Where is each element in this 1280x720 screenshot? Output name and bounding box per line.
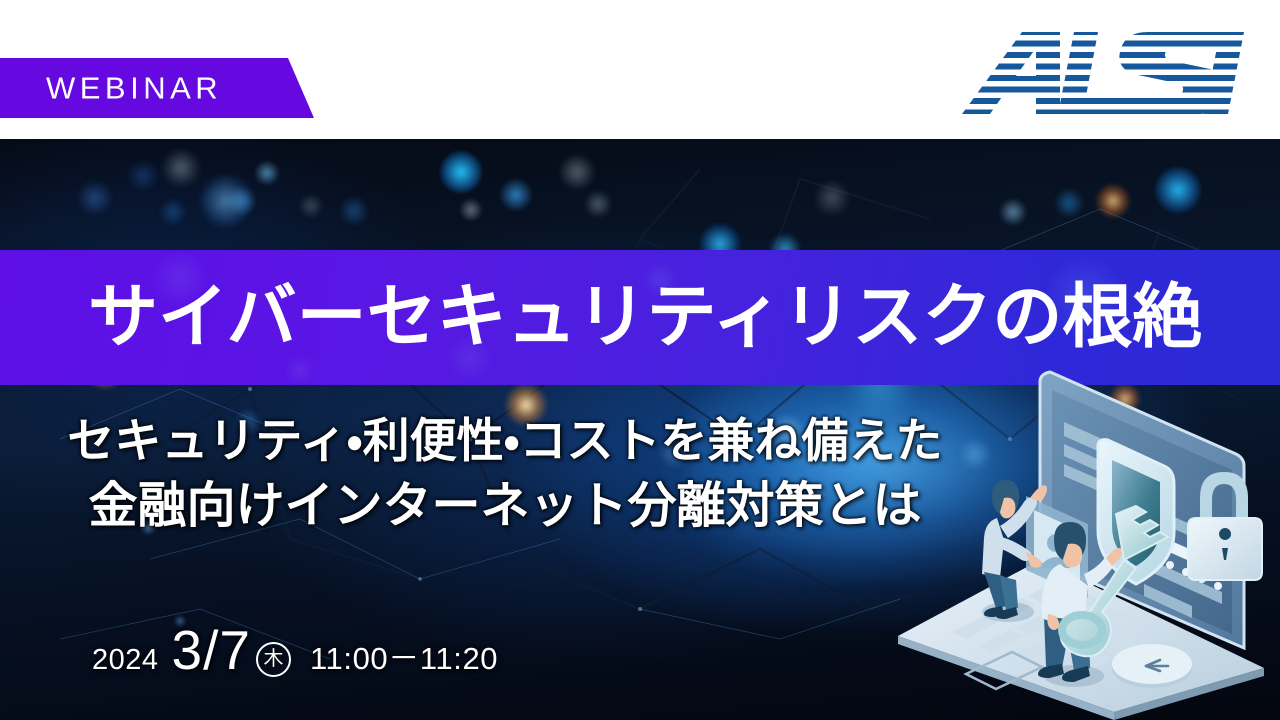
alsi-logo <box>952 22 1252 118</box>
event-day-of-week: 木 <box>256 642 291 677</box>
event-datetime: 2024 3/7 木 11:00－11:20 <box>92 618 498 682</box>
webinar-badge: WEBINAR <box>0 58 314 118</box>
subtitle-block: セキュリティ・利便性・コストを兼ね備えた 金融向けインターネット分離対策とは <box>0 414 1010 534</box>
page-title: サイバーセキュリティリスクの根絶 <box>88 281 1202 351</box>
title-band: サイバーセキュリティリスクの根絶 <box>0 250 1280 385</box>
event-month-day: 3/7 <box>172 618 251 682</box>
return-key <box>1112 644 1192 688</box>
isometric-security-illustration <box>892 368 1280 720</box>
event-year: 2024 <box>92 644 159 677</box>
subtitle-line-2: 金融向けインターネット分離対策とは <box>0 479 1010 534</box>
event-time: 11:00－11:20 <box>310 633 498 678</box>
webinar-banner: サイバーセキュリティリスクの根絶 セキュリティ・利便性・コストを兼ね備えた 金融… <box>0 0 1280 720</box>
webinar-badge-label: WEBINAR <box>46 73 222 104</box>
subtitle-line-1: セキュリティ・利便性・コストを兼ね備えた <box>0 414 1010 467</box>
